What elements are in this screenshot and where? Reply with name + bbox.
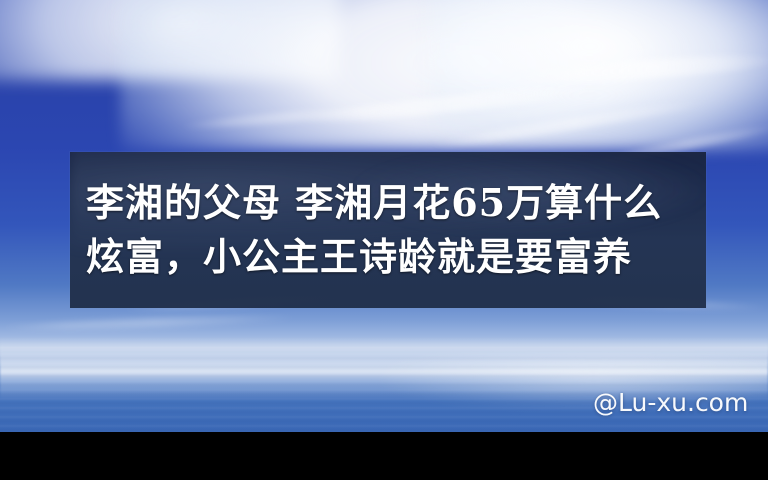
bottom-letterbox-bar — [0, 432, 768, 480]
caption-text-block: 李湘的父母 李湘月花65万算什么 炫富，小公主王诗龄就是要富养 — [70, 152, 706, 308]
background-photo: 李湘的父母 李湘月花65万算什么 炫富，小公主王诗龄就是要富养 @Lu-xu.c… — [0, 0, 768, 432]
screenshot-canvas: 李湘的父母 李湘月花65万算什么 炫富，小公主王诗龄就是要富养 @Lu-xu.c… — [0, 0, 768, 480]
caption-line-2: 炫富，小公主王诗龄就是要富养 — [86, 230, 632, 284]
site-watermark: @Lu-xu.com — [593, 388, 748, 417]
caption-overlay-box: 李湘的父母 李湘月花65万算什么 炫富，小公主王诗龄就是要富养 — [70, 152, 706, 308]
caption-line-1: 李湘的父母 李湘月花65万算什么 — [86, 176, 662, 230]
